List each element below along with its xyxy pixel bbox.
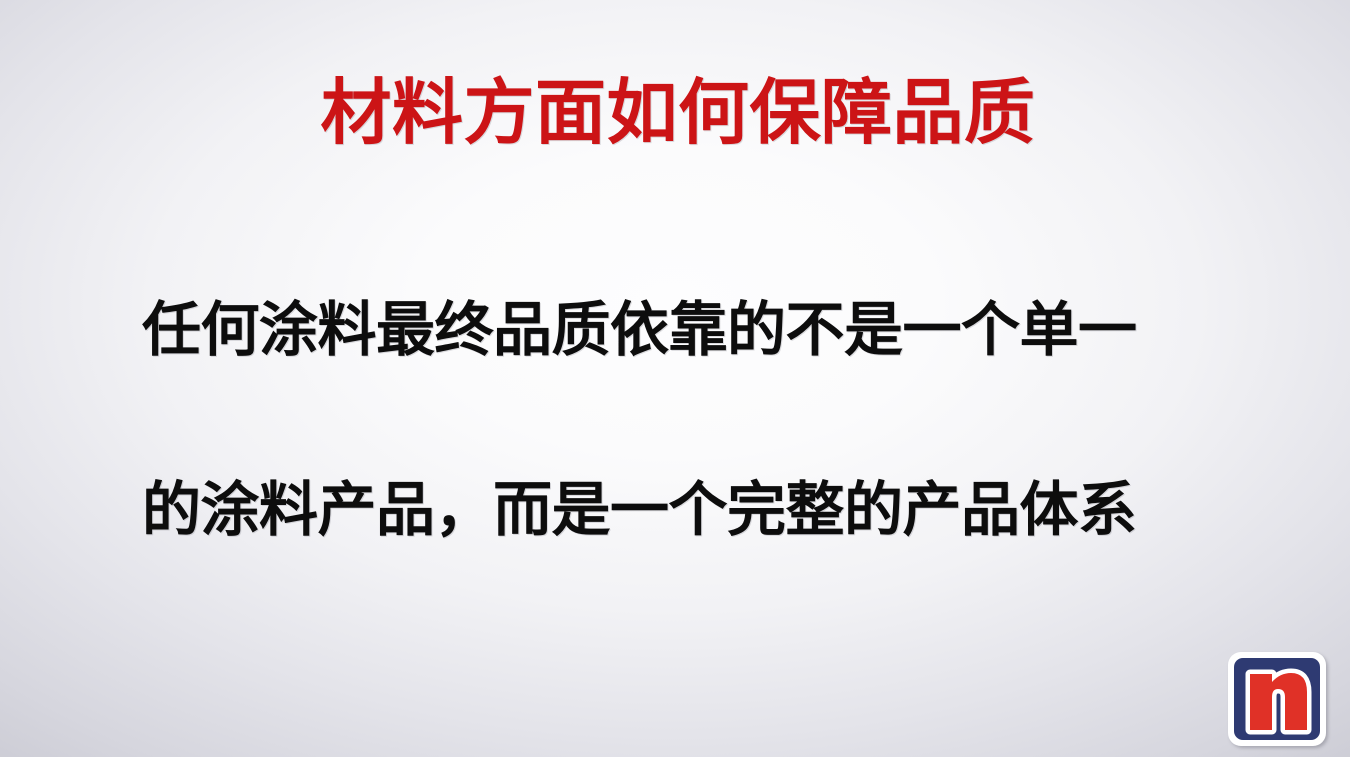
body-text-block: 任何涂料最终品质依靠的不是一个单一 的涂料产品，而是一个完整的产品体系 — [142, 300, 1162, 539]
brand-logo — [1228, 652, 1326, 746]
page-title: 材料方面如何保障品质 — [320, 76, 1035, 150]
body-line-1: 任何涂料最终品质依靠的不是一个单一 — [142, 300, 1162, 359]
slide-canvas: 材料方面如何保障品质 任何涂料最终品质依靠的不是一个单一 的涂料产品，而是一个完… — [0, 0, 1350, 757]
logo-letter-n-icon — [1228, 652, 1326, 746]
title-container: 材料方面如何保障品质 — [0, 76, 1350, 150]
body-line-2: 的涂料产品，而是一个完整的产品体系 — [142, 480, 1162, 539]
